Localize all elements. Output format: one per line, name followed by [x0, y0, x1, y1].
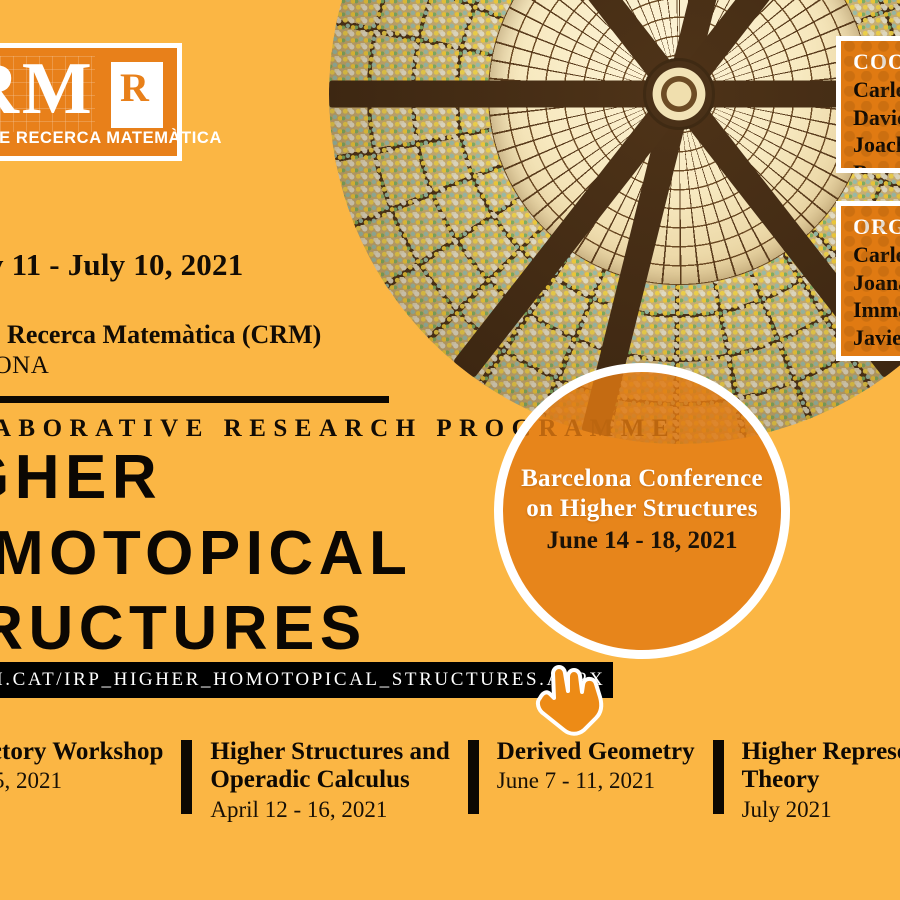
organizer-name: Joana Cirici [853, 269, 900, 297]
organizer-name: Carles Casacuberta [853, 241, 900, 269]
activity-date: April 12 - 16, 2021 [210, 797, 449, 823]
coordinators-title: COORDINATORS [853, 49, 900, 75]
activity-separator [713, 740, 724, 814]
conference-badge-line-1: Barcelona Conference [521, 464, 763, 494]
conference-badge[interactable]: Barcelona Conference on Higher Structure… [494, 363, 790, 659]
activities-strip: Introductory Workshop April 1 - 5, 2021 … [0, 738, 900, 848]
coordinator-name: Joachim Kock [853, 131, 900, 159]
pointing-hand-icon [534, 664, 610, 736]
conference-badge-dates: June 14 - 18, 2021 [547, 525, 738, 558]
coordinator-name: Bruno Vallette [853, 159, 900, 173]
programme-dates: January 11 - July 10, 2021 [0, 247, 652, 283]
activity-name: Introductory Workshop [0, 738, 163, 766]
activity-date: April 1 - 5, 2021 [0, 768, 163, 794]
venue-name: Centre de Recerca Matemàtica (CRM) [0, 320, 652, 350]
organizer-name: Andy Tonks [853, 352, 900, 361]
activity-separator [468, 740, 479, 814]
activity-name: Higher Representation [742, 738, 900, 766]
activity-item[interactable]: Higher Structures and Operadic Calculus … [210, 738, 463, 823]
activity-item[interactable]: Introductory Workshop April 1 - 5, 2021 [0, 738, 177, 794]
activity-name: Higher Structures and [210, 738, 449, 766]
dome-spoke [329, 81, 900, 108]
activity-name: Derived Geometry [497, 738, 695, 766]
title-divider-rule [0, 396, 389, 403]
conference-badge-line-2: on Higher Structures [526, 494, 757, 524]
activity-name-line2: Operadic Calculus [210, 766, 449, 794]
crm-logo-r-badge: R [111, 62, 163, 128]
organizer-name: Javier J. Gutiérrez [853, 324, 900, 352]
website-url-bar[interactable]: WWW.CRM.CAT/IRP_HIGHER_HOMOTOPICAL_STRUC… [0, 662, 613, 698]
crm-logo-letters: CRM [0, 52, 95, 126]
coordinator-name: Carles Casacuberta [853, 76, 900, 104]
coordinator-name: David Gepner [853, 104, 900, 132]
activity-separator [181, 740, 192, 814]
activity-date: July 2021 [742, 797, 900, 823]
organizer-name: Imma Gálvez [853, 296, 900, 324]
activity-name-line2: Theory [742, 766, 900, 794]
organizers-box: ORGANIZERS Carles Casacuberta Joana Ciri… [836, 201, 900, 361]
activity-item[interactable]: Derived Geometry June 7 - 11, 2021 [497, 738, 709, 794]
organizers-title: ORGANIZERS [853, 214, 900, 240]
venue-city: BARCELONA [0, 352, 652, 380]
coordinators-box: COORDINATORS Carles Casacuberta David Ge… [836, 36, 900, 173]
poster-canvas: CRM R CENTRE DE RECERCA MATEMÀTICA Janua… [0, 0, 900, 900]
activity-date: June 7 - 11, 2021 [497, 768, 695, 794]
crm-logo-r-letter: R [120, 64, 149, 111]
crm-logo-subtitle: CENTRE DE RECERCA MATEMÀTICA [0, 129, 222, 148]
dome-center-hub [643, 58, 715, 130]
website-url-text: WWW.CRM.CAT/IRP_HIGHER_HOMOTOPICAL_STRUC… [0, 669, 605, 691]
crm-logo: CRM R CENTRE DE RECERCA MATEMÀTICA [0, 43, 182, 161]
activity-item[interactable]: Higher Representation Theory July 2021 [742, 738, 900, 823]
